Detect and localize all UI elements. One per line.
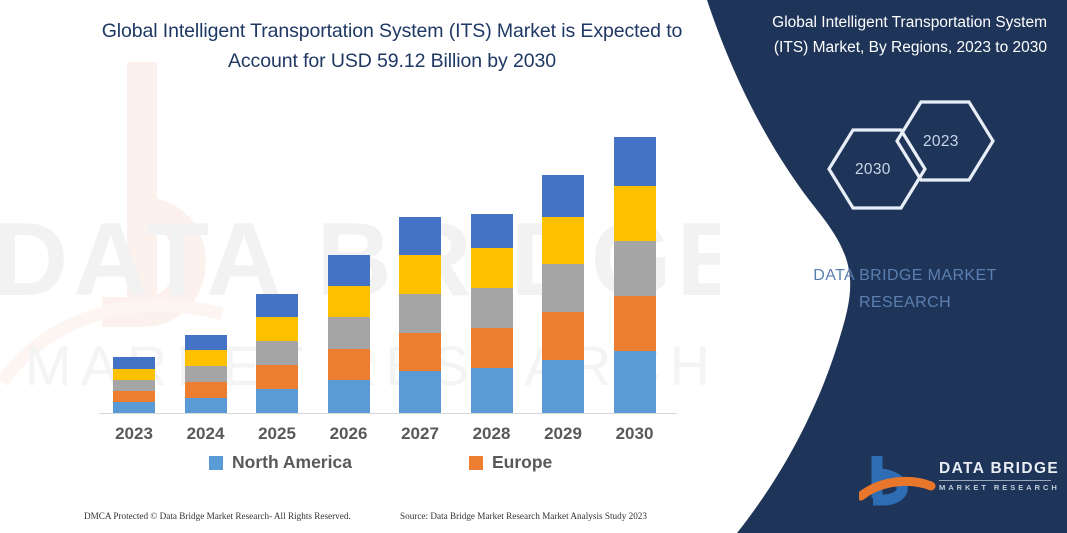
logo-divider	[939, 480, 1051, 481]
bar-segment-series-4	[113, 369, 155, 380]
footer-copyright: DMCA Protected © Data Bridge Market Rese…	[84, 511, 351, 521]
x-tick-2024: 2024	[170, 424, 242, 444]
bar-segment-series-5	[471, 214, 513, 248]
logo-title: DATA BRIDGE	[939, 460, 1060, 478]
bar-segment-europe	[542, 312, 584, 360]
panel-background-shape	[667, 0, 1067, 533]
bar-segment-north-america	[328, 380, 370, 413]
data-bridge-logo: DATA BRIDGE MARKET RESEARCH	[859, 452, 1059, 510]
bar-segment-series-3	[256, 341, 298, 365]
bar-segment-series-3	[328, 317, 370, 349]
bar-segment-series-3	[185, 366, 227, 382]
bar-segment-north-america	[542, 360, 584, 413]
bar-segment-europe	[256, 365, 298, 389]
x-tick-2025: 2025	[241, 424, 313, 444]
legend-swatch	[469, 456, 483, 470]
bar-segment-series-5	[256, 294, 298, 317]
logo-subtitle: MARKET RESEARCH	[939, 483, 1060, 492]
bar-2027	[399, 217, 441, 413]
bar-segment-series-5	[542, 175, 584, 217]
bar-2030	[614, 137, 656, 413]
hexagon-badges: 2023 2030	[809, 96, 1029, 211]
x-axis-line	[99, 413, 677, 414]
bar-2026	[328, 255, 370, 413]
bar-segment-europe	[471, 328, 513, 368]
legend-item-north-america[interactable]: North America	[209, 452, 352, 473]
chart-legend: North AmericaEurope	[99, 452, 679, 484]
x-axis-tick-labels: 20232024202520262027202820292030	[99, 424, 677, 452]
bar-segment-series-5	[399, 217, 441, 255]
bar-segment-north-america	[471, 368, 513, 413]
bar-segment-north-america	[185, 398, 227, 413]
bar-2024	[185, 335, 227, 413]
panel-title: Global Intelligent Transportation System…	[757, 10, 1047, 60]
bar-segment-series-4	[328, 286, 370, 317]
bar-segment-europe	[399, 333, 441, 371]
logo-mark-icon	[859, 452, 937, 510]
bar-segment-series-5	[328, 255, 370, 286]
bar-2023	[113, 357, 155, 413]
bar-segment-series-5	[113, 357, 155, 369]
panel-brand-text: DATA BRIDGE MARKET RESEARCH	[785, 262, 1025, 316]
bar-segment-series-4	[185, 350, 227, 366]
bar-segment-series-5	[185, 335, 227, 350]
legend-swatch	[209, 456, 223, 470]
bar-segment-series-5	[614, 137, 656, 186]
bar-2029	[542, 175, 584, 413]
footer-source: Source: Data Bridge Market Research Mark…	[400, 511, 647, 521]
bar-segment-series-4	[471, 248, 513, 288]
bar-segment-north-america	[614, 351, 656, 413]
bar-segment-europe	[614, 296, 656, 351]
bar-segment-north-america	[399, 371, 441, 413]
stacked-bar-chart: 20232024202520262027202820292030 North A…	[0, 0, 720, 533]
bar-segment-series-4	[542, 217, 584, 264]
infographic-canvas: DATA BRIDGE MARKET RESEARCH Global Intel…	[0, 0, 1067, 533]
bar-segment-series-4	[614, 186, 656, 241]
bar-segment-europe	[328, 349, 370, 380]
bar-segment-series-3	[471, 288, 513, 328]
x-tick-2028: 2028	[456, 424, 528, 444]
bar-segment-europe	[185, 382, 227, 398]
x-tick-2029: 2029	[527, 424, 599, 444]
legend-item-europe[interactable]: Europe	[469, 452, 552, 473]
bar-2028	[471, 214, 513, 413]
bar-segment-series-3	[399, 294, 441, 333]
x-tick-2030: 2030	[599, 424, 671, 444]
hexagon-outline-icons	[809, 96, 1029, 211]
footer: DMCA Protected © Data Bridge Market Rese…	[0, 505, 720, 531]
x-tick-2026: 2026	[313, 424, 385, 444]
bar-segment-north-america	[256, 389, 298, 413]
bar-segment-series-3	[113, 380, 155, 391]
hexagon-label-2030: 2030	[855, 161, 891, 179]
bar-2025	[256, 294, 298, 413]
bar-segment-series-4	[399, 255, 441, 294]
side-panel: Global Intelligent Transportation System…	[667, 0, 1067, 533]
legend-label: Europe	[492, 452, 552, 473]
x-tick-2023: 2023	[98, 424, 170, 444]
bar-segment-series-3	[542, 264, 584, 312]
bar-segment-north-america	[113, 402, 155, 413]
x-tick-2027: 2027	[384, 424, 456, 444]
legend-label: North America	[232, 452, 352, 473]
hexagon-label-2023: 2023	[923, 133, 959, 151]
bar-segment-series-3	[614, 241, 656, 296]
bar-segment-series-4	[256, 317, 298, 341]
bar-segment-europe	[113, 391, 155, 402]
